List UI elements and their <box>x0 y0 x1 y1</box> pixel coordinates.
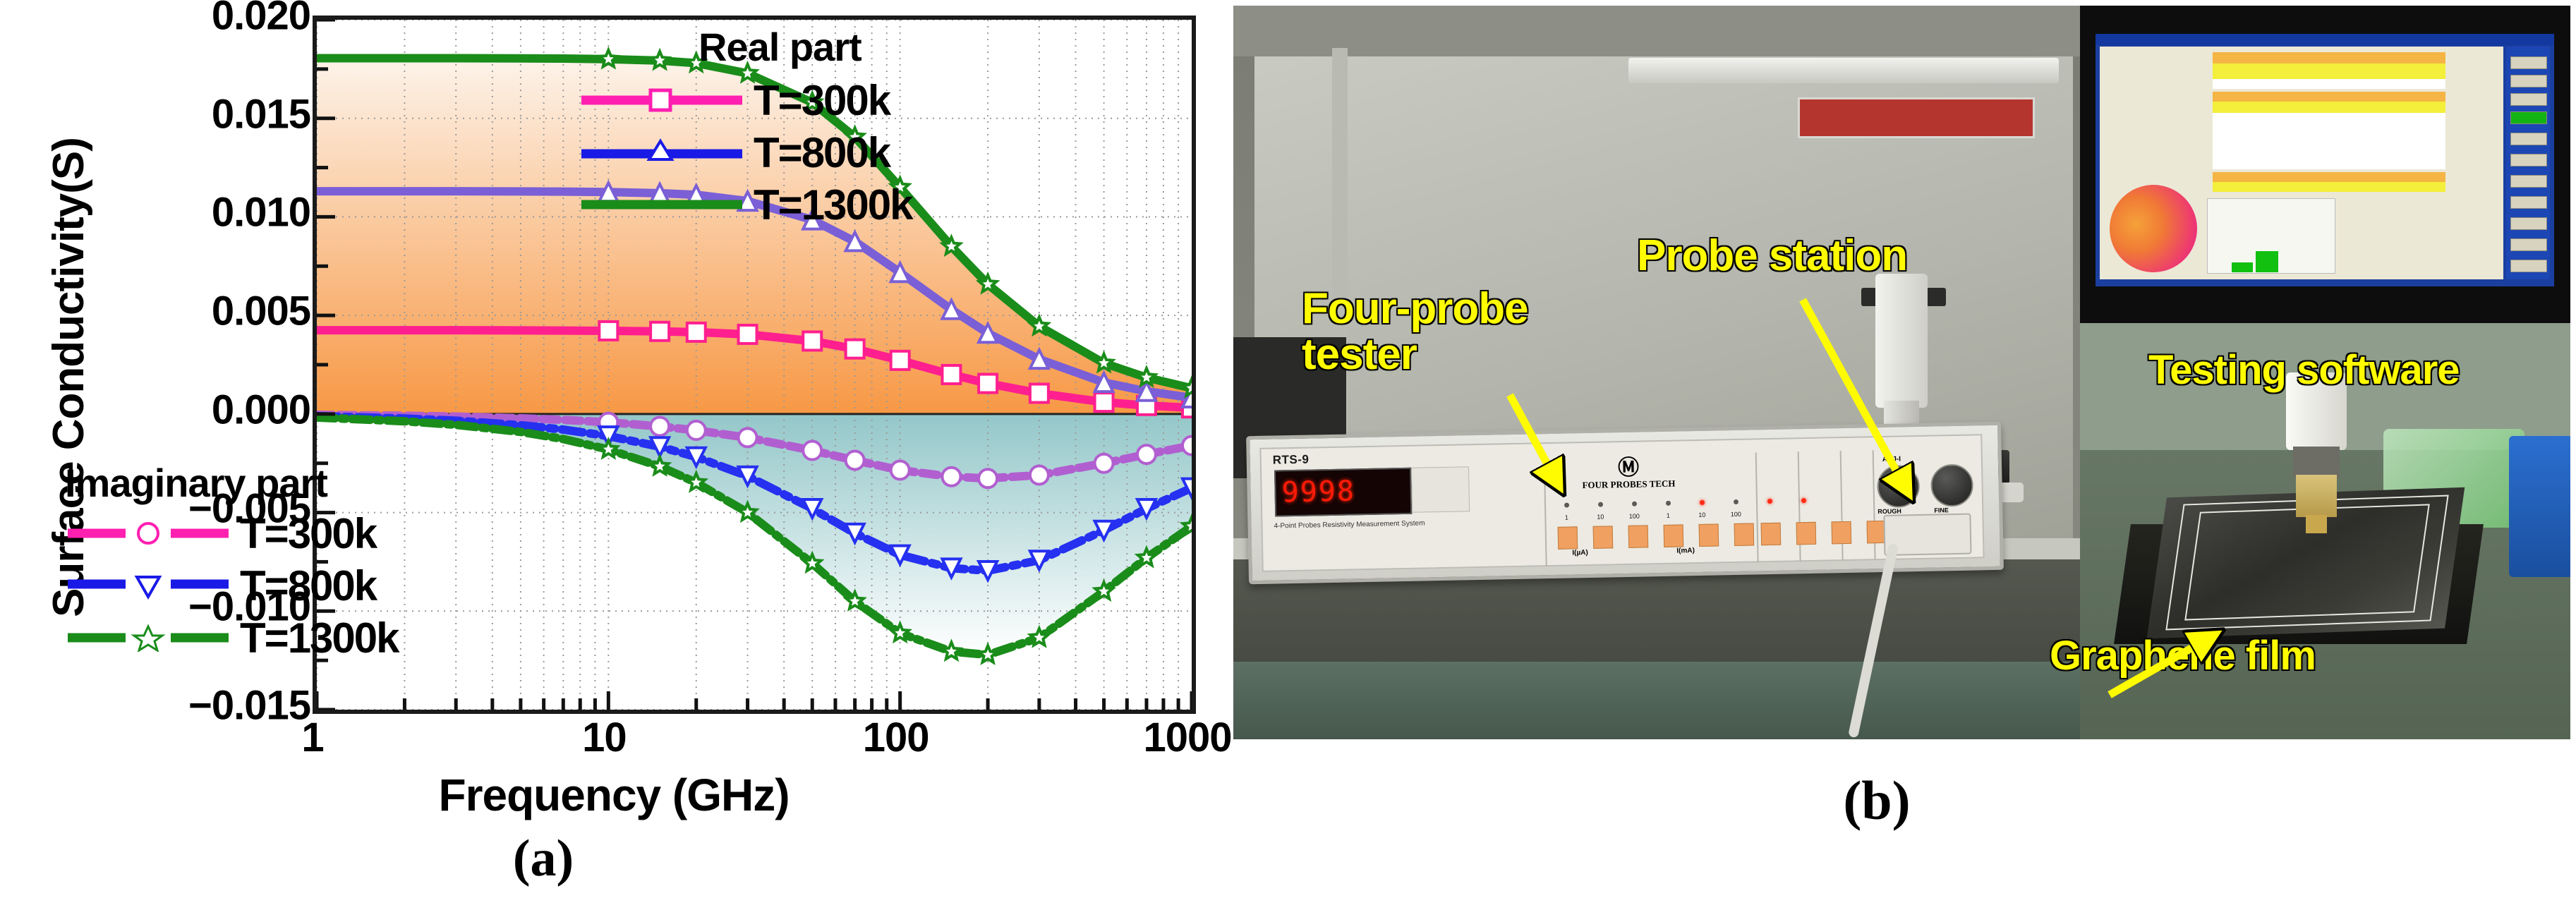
knob-label-fine: FINE <box>1934 506 1949 514</box>
legend-imag-title: Imaginary part <box>65 460 399 506</box>
current-range-buttons[interactable] <box>1558 523 1755 550</box>
x-axis-ticks: 1101001000 <box>0 714 1228 770</box>
legend-swatch-real-800k <box>579 138 745 166</box>
software-side-button[interactable] <box>2510 196 2547 209</box>
software-side-button[interactable] <box>2510 93 2547 106</box>
software-button-column <box>2506 47 2550 279</box>
annotation-probe-station: Probe station <box>1637 233 1907 279</box>
led <box>1591 502 1609 506</box>
legend-swatch-real-300k <box>579 86 745 114</box>
legend-swatch-imag-300k <box>65 519 231 547</box>
software-table-row <box>2213 102 2445 113</box>
legend-row: T=800k <box>65 559 399 612</box>
legend-row: T=1300k <box>579 178 912 231</box>
legend-row: T=1300k <box>65 612 399 664</box>
panel-divider <box>1873 450 1876 560</box>
legend-label: T=800k <box>754 128 890 177</box>
led <box>1693 500 1711 505</box>
software-table-row <box>2213 79 2445 89</box>
figure-root: Surface Conductivity(S) 0.0200.0150.0100… <box>0 0 2576 910</box>
annotation-testing-software: Testing software <box>2148 349 2460 392</box>
software-side-button-active[interactable] <box>2510 111 2547 124</box>
legend-label: T=800k <box>240 562 376 610</box>
knob-label-rough: ROUGH <box>1877 507 1901 515</box>
legend-row: T=300k <box>579 74 912 126</box>
panel-divider <box>1840 451 1844 561</box>
step-label: 100 <box>1625 512 1643 519</box>
legend-row: T=300k <box>65 507 399 559</box>
function-button[interactable] <box>1796 522 1817 545</box>
range-button[interactable] <box>1664 524 1684 547</box>
range-button[interactable] <box>1593 526 1614 549</box>
legend-label: T=300k <box>754 76 890 125</box>
chart-bar <box>2232 262 2253 272</box>
function-led-row <box>1760 498 1813 504</box>
function-button[interactable] <box>1761 523 1782 546</box>
instrument-brand: Ⓜ FOUR PROBES TECH <box>1558 456 1700 492</box>
instrument-led-legend-box <box>1411 466 1470 513</box>
range-button[interactable] <box>1734 523 1755 547</box>
y-tick-label: 0.005 <box>99 288 310 335</box>
software-side-button[interactable] <box>2510 238 2547 251</box>
instrument-front-panel: RTS-9 9998 4-Point Probes Resistivity Me… <box>1259 434 1984 572</box>
software-side-button[interactable] <box>2510 260 2547 272</box>
software-body <box>2100 47 2503 279</box>
legend-real-title: Real part <box>699 24 912 70</box>
step-label: 10 <box>1693 511 1711 518</box>
cabinet-lamp <box>1628 58 2059 83</box>
legend-swatch-imag-800k <box>65 571 231 600</box>
range-button[interactable] <box>1628 525 1649 548</box>
led <box>1794 498 1813 503</box>
software-table-header <box>2213 92 2445 102</box>
software-side-button[interactable] <box>2510 133 2547 145</box>
rough-knob[interactable] <box>1877 465 1920 508</box>
software-table-header <box>2213 172 2445 182</box>
software-side-button[interactable] <box>2510 175 2547 188</box>
legend-label: T=300k <box>240 509 376 558</box>
probe-station-column <box>1875 274 1928 408</box>
software-table-header <box>2213 52 2445 63</box>
function-button[interactable] <box>1832 521 1852 545</box>
legend-label: T=1300k <box>754 181 912 229</box>
led <box>1659 501 1677 506</box>
fine-knob[interactable] <box>1930 464 1973 507</box>
cabinet-top-edge <box>1233 6 2080 56</box>
probe-tip <box>2306 515 2327 533</box>
chart-bar <box>2256 251 2278 272</box>
software-bar-chart <box>2207 198 2335 274</box>
panel-b-caption: (b) <box>1771 769 1983 832</box>
range-label-milliamp: I(mA) <box>1676 547 1695 554</box>
step-label: 100 <box>1727 511 1745 518</box>
adj-label: ADJ-I <box>1882 455 1901 463</box>
x-tick-label: 1000 <box>1143 714 1231 761</box>
instrument-subtitle: 4-Point Probes Resistivity Measurement S… <box>1274 519 1425 530</box>
wall-sign <box>1798 97 2035 138</box>
annotation-graphene-film: Graphene film <box>2050 635 2316 678</box>
panel-a-caption: (a) <box>437 829 649 889</box>
instrument-display-value: 9998 <box>1281 475 1355 508</box>
instrument-display: 9998 <box>1274 468 1412 517</box>
current-step-labels: 1 10 100 1 10 100 <box>1557 511 1745 521</box>
range-button[interactable] <box>1699 523 1719 547</box>
led <box>1760 499 1779 504</box>
probe-neck <box>2293 447 2340 478</box>
lab-floor <box>1233 662 2080 739</box>
range-label-microamp: I(µA) <box>1572 549 1588 557</box>
software-side-button[interactable] <box>2510 217 2547 230</box>
software-table-row <box>2213 182 2445 192</box>
y-tick-label: 0.020 <box>99 0 310 40</box>
function-buttons[interactable] <box>1761 521 1887 545</box>
current-led-row <box>1557 499 1745 508</box>
brand-name: FOUR PROBES TECH <box>1582 478 1675 491</box>
panel-divider <box>1798 451 1801 562</box>
computer-monitor <box>2080 6 2570 323</box>
x-tick-label: 10 <box>582 714 627 761</box>
blue-container <box>2509 436 2570 577</box>
annotation-four-probe-tester: Four-probe tester <box>1302 286 1528 377</box>
software-side-button[interactable] <box>2510 154 2547 166</box>
y-tick-label: 0.000 <box>99 386 310 433</box>
chart-panel: Surface Conductivity(S) 0.0200.0150.0100… <box>0 0 1228 910</box>
instrument-model-title: RTS-9 <box>1273 453 1310 468</box>
range-button[interactable] <box>1558 526 1578 550</box>
led <box>1557 502 1576 507</box>
x-axis-label: Frequency (GHz) <box>296 769 931 821</box>
x-tick-label: 100 <box>863 714 929 761</box>
software-table-row <box>2213 63 2445 79</box>
monitor-screen <box>2096 34 2554 286</box>
probe-barrel <box>2296 475 2337 517</box>
step-label: 10 <box>1591 513 1609 520</box>
legend-row: T=800k <box>579 126 912 178</box>
x-tick-label: 1 <box>301 714 323 761</box>
panel-divider <box>1755 452 1759 562</box>
legend-swatch-real-1300k <box>579 190 745 219</box>
software-side-button[interactable] <box>2510 75 2547 87</box>
software-table-body <box>2213 113 2445 169</box>
brand-mark-icon: Ⓜ <box>1558 456 1700 480</box>
step-label: 1 <box>1659 512 1677 519</box>
wafer-map-icon <box>2110 185 2197 272</box>
legend-imaginary-part: Imaginary part T=300k T=800k T=1300k <box>55 460 399 664</box>
led <box>1727 499 1745 504</box>
software-title-bar <box>2096 34 2554 45</box>
y-tick-label: 0.010 <box>99 189 310 236</box>
legend-real-part: Real part T=300k T=800k T=1300k <box>579 24 912 231</box>
y-tick-label: 0.015 <box>99 90 310 138</box>
legend-label: T=1300k <box>240 614 399 662</box>
software-side-button[interactable] <box>2510 56 2547 69</box>
led <box>1625 502 1643 506</box>
legend-swatch-imag-1300k <box>65 624 231 652</box>
step-label: 1 <box>1557 514 1576 521</box>
panel-divider <box>1544 456 1547 566</box>
